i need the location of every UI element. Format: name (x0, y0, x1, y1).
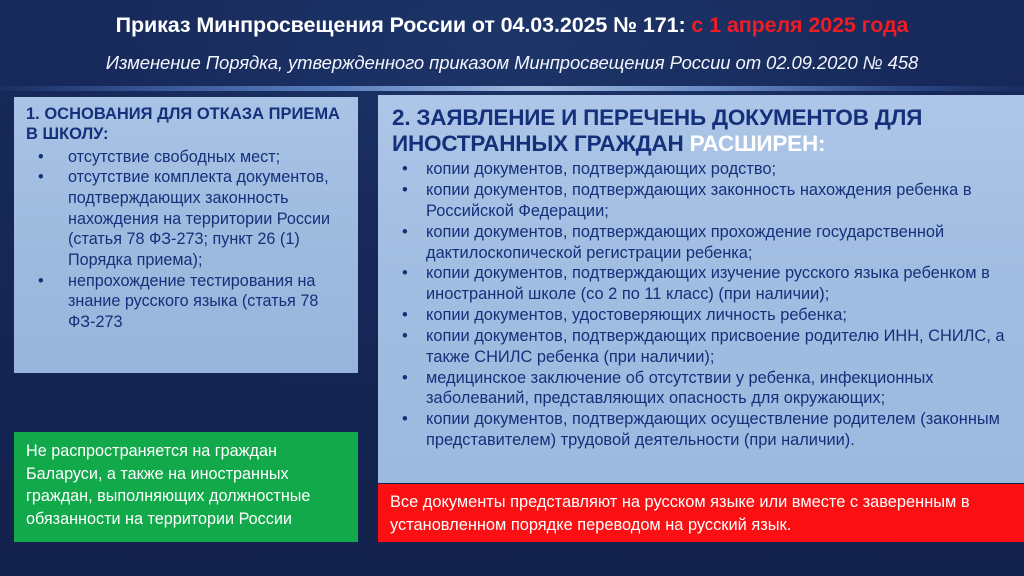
panel-documents-list: 2. ЗАЯВЛЕНИЕ И ПЕРЕЧЕНЬ ДОКУМЕНТОВ ДЛЯ И… (378, 95, 1024, 483)
list-item-text: отсутствие свободных мест; (68, 148, 280, 166)
documents-heading-highlight-text: РАСШИРЕН: (690, 131, 826, 156)
list-item-text: копии документов, подтверждающих изучени… (426, 264, 990, 303)
list-item: • копии документов, подтверждающих изуче… (390, 263, 1014, 305)
list-item-text: копии документов, удостоверяющих личност… (426, 306, 847, 324)
list-item-text: медицинское заключение об отсутствии у р… (426, 369, 933, 408)
exemption-note-green: Не распространяется на граждан Баларуси,… (14, 432, 358, 542)
list-item: • медицинское заключение об отсутствии у… (390, 368, 1014, 410)
bullet-icon: • (402, 263, 408, 284)
refusal-grounds-list: • отсутствие свободных мест; • отсутстви… (24, 147, 348, 333)
bullet-icon: • (402, 180, 408, 201)
list-item: • копии документов, подтверждающих прохо… (390, 222, 1014, 264)
title-accent-text: с 1 апреля 2025 года (691, 13, 908, 37)
list-item-text: отсутствие комплекта документов, подтвер… (68, 168, 330, 269)
list-item: • копии документов, подтверждающих присв… (390, 326, 1014, 368)
slide-header: Приказ Минпросвещения России от 04.03.20… (0, 0, 1024, 88)
refusal-grounds-heading: 1. ОСНОВАНИЯ ДЛЯ ОТКАЗА ПРИЕМА В ШКОЛУ: (26, 105, 348, 145)
bullet-icon: • (402, 409, 408, 430)
page-title: Приказ Минпросвещения России от 04.03.20… (0, 13, 1024, 38)
list-item-text: копии документов, подтверждающих осущест… (426, 410, 1000, 449)
bullet-icon: • (38, 271, 44, 292)
documents-list-heading: 2. ЗАЯВЛЕНИЕ И ПЕРЕЧЕНЬ ДОКУМЕНТОВ ДЛЯ И… (392, 105, 1014, 156)
panel-refusal-grounds: 1. ОСНОВАНИЯ ДЛЯ ОТКАЗА ПРИЕМА В ШКОЛУ: … (14, 97, 358, 373)
list-item-text: копии документов, подтверждающих законно… (426, 181, 972, 220)
list-item: • отсутствие свободных мест; (24, 147, 348, 168)
bullet-icon: • (402, 305, 408, 326)
translation-note-red: Все документы представляют на русском яз… (378, 484, 1024, 542)
page-subtitle: Изменение Порядка, утвержденного приказо… (0, 52, 1024, 74)
slide-root: Приказ Минпросвещения России от 04.03.20… (0, 0, 1024, 576)
bullet-icon: • (38, 167, 44, 188)
list-item: • копии документов, подтверждающих родст… (390, 159, 1014, 180)
list-item: • копии документов, подтверждающих закон… (390, 180, 1014, 222)
bullet-icon: • (38, 147, 44, 168)
list-item-text: копии документов, подтверждающих прохожд… (426, 223, 944, 262)
bullet-icon: • (402, 368, 408, 389)
list-item: • копии документов, подтверждающих осуще… (390, 409, 1014, 451)
list-item-text: непрохождение тестирования на знание рус… (68, 272, 318, 331)
documents-list: • копии документов, подтверждающих родст… (390, 159, 1014, 451)
bullet-icon: • (402, 222, 408, 243)
list-item: • копии документов, удостоверяющих лично… (390, 305, 1014, 326)
documents-heading-main-text: 2. ЗАЯВЛЕНИЕ И ПЕРЕЧЕНЬ ДОКУМЕНТОВ ДЛЯ И… (392, 105, 922, 156)
bullet-icon: • (402, 159, 408, 180)
list-item-text: копии документов, подтверждающих родство… (426, 160, 776, 178)
list-item: • отсутствие комплекта документов, подтв… (24, 167, 348, 270)
list-item: • непрохождение тестирования на знание р… (24, 271, 348, 333)
bullet-icon: • (402, 326, 408, 347)
header-divider (0, 86, 1024, 91)
list-item-text: копии документов, подтверждающих присвое… (426, 327, 1004, 366)
title-main-text: Приказ Минпросвещения России от 04.03.20… (116, 13, 686, 37)
